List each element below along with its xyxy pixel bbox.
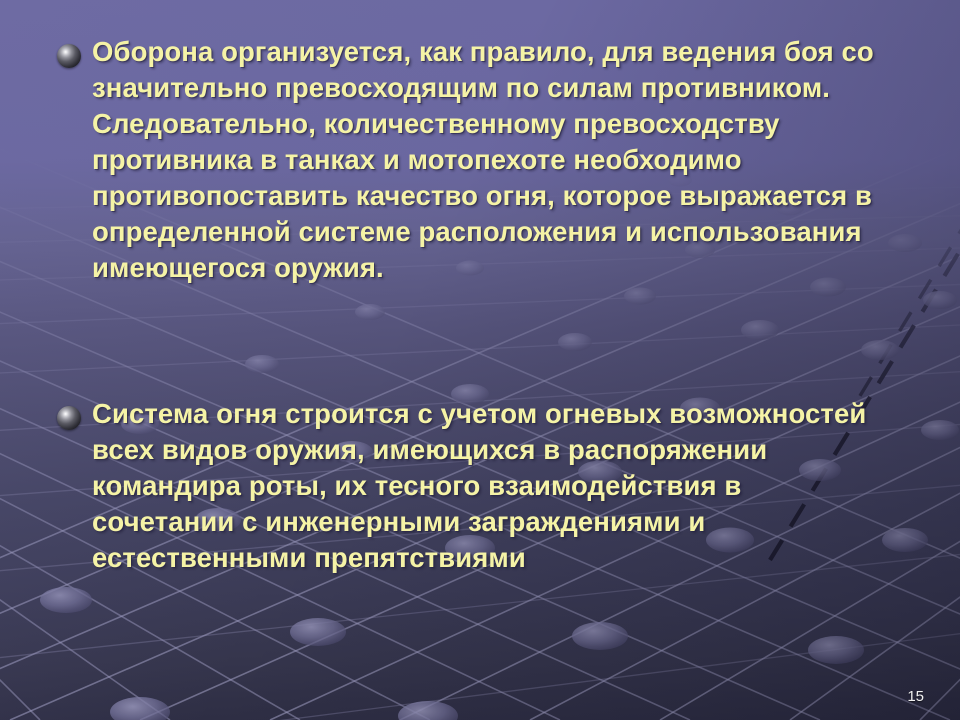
bullet-item: Оборона организуется, как правило, для в… [56, 34, 886, 286]
bullet-item: Система огня строится с учетом огневых в… [56, 396, 886, 576]
sphere-bullet-icon [56, 405, 82, 431]
bullet-text-2: Система огня строится с учетом огневых в… [92, 396, 886, 576]
slide-content: Оборона организуется, как правило, для в… [0, 0, 960, 720]
bullet-text-1: Оборона организуется, как правило, для в… [92, 34, 886, 286]
sphere-bullet-icon [56, 43, 82, 69]
bullet-sphere-shape [57, 406, 81, 430]
presentation-slide: Оборона организуется, как правило, для в… [0, 0, 960, 720]
page-number: 15 [907, 688, 924, 706]
bullet-sphere-shape [57, 44, 81, 68]
